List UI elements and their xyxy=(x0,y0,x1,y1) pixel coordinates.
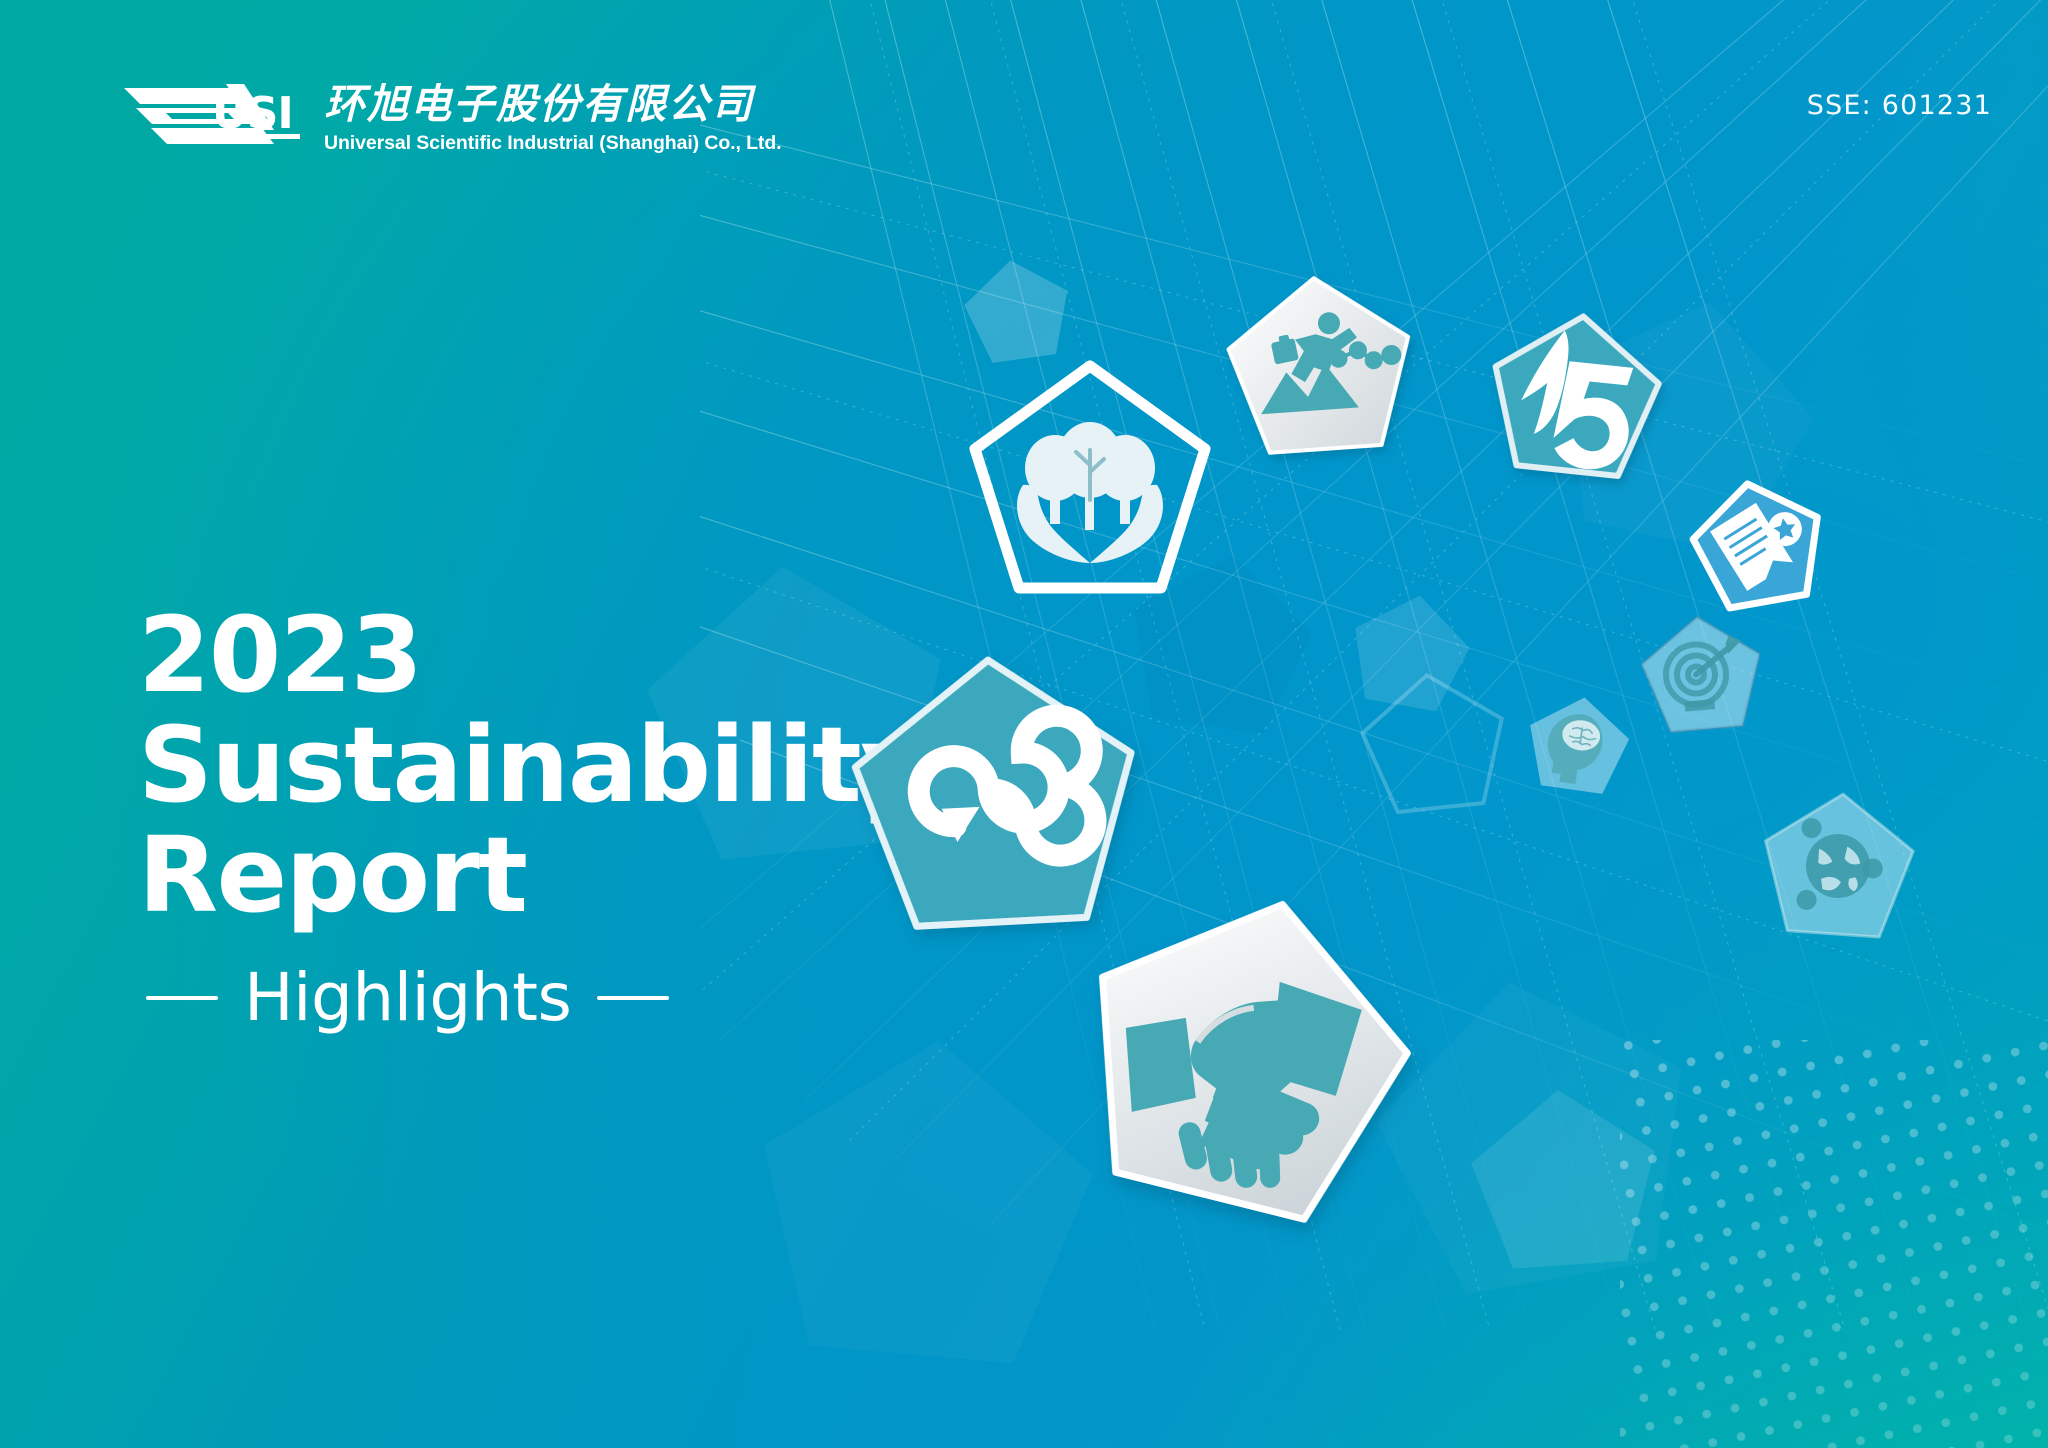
rule-right xyxy=(597,996,669,1000)
target-arrow-icon xyxy=(1633,607,1771,742)
badge-anniversary-15 xyxy=(1477,301,1672,491)
badge-certificate xyxy=(1680,467,1837,621)
svg-text:USI: USI xyxy=(212,88,293,139)
badge-target xyxy=(1633,607,1771,742)
company-logo: USI 环旭电子股份有限公司 Universal Scientific Indu… xyxy=(122,82,781,156)
title-report: Report xyxy=(138,820,938,930)
logo-chinese-name: 环旭电子股份有限公司 xyxy=(324,84,781,125)
report-cover: USI 环旭电子股份有限公司 Universal Scientific Indu… xyxy=(0,0,2048,1448)
badge-trees-in-hands xyxy=(965,360,1215,600)
stock-listing-code: SSE: 601231 xyxy=(1807,90,1992,121)
cover-header: USI 环旭电子股份有限公司 Universal Scientific Indu… xyxy=(0,0,2048,210)
title-subtitle: Highlights xyxy=(244,965,571,1031)
rule-left xyxy=(146,996,218,1000)
title-sustainability: Sustainability xyxy=(138,710,938,820)
subtitle-row: Highlights xyxy=(146,965,938,1031)
cover-title-block: 2023 Sustainability Report Highlights xyxy=(138,600,938,1031)
pentagon-watermark-lower xyxy=(747,1026,1103,1369)
head-with-brain-icon xyxy=(1517,685,1638,803)
infinity-loop-arrow-icon xyxy=(838,642,1153,947)
trees-in-hands-icon xyxy=(965,360,1215,600)
badge-circular-economy xyxy=(838,642,1153,947)
badge-career-growth xyxy=(1216,265,1425,468)
dot-grid-pattern xyxy=(1620,1040,2048,1448)
title-year: 2023 xyxy=(138,600,938,710)
anniversary-15-badge-icon xyxy=(1477,301,1672,491)
globe-network-icon xyxy=(1753,783,1923,950)
usi-chevron-logo-mark-icon: USI xyxy=(122,82,302,156)
logo-english-name: Universal Scientific Industrial (Shangha… xyxy=(324,133,781,154)
certificate-award-icon xyxy=(1680,467,1837,621)
badge-innovation xyxy=(1517,685,1638,803)
businessperson-climbing-mountain-icon xyxy=(1216,265,1425,468)
badge-global-network xyxy=(1753,783,1923,950)
